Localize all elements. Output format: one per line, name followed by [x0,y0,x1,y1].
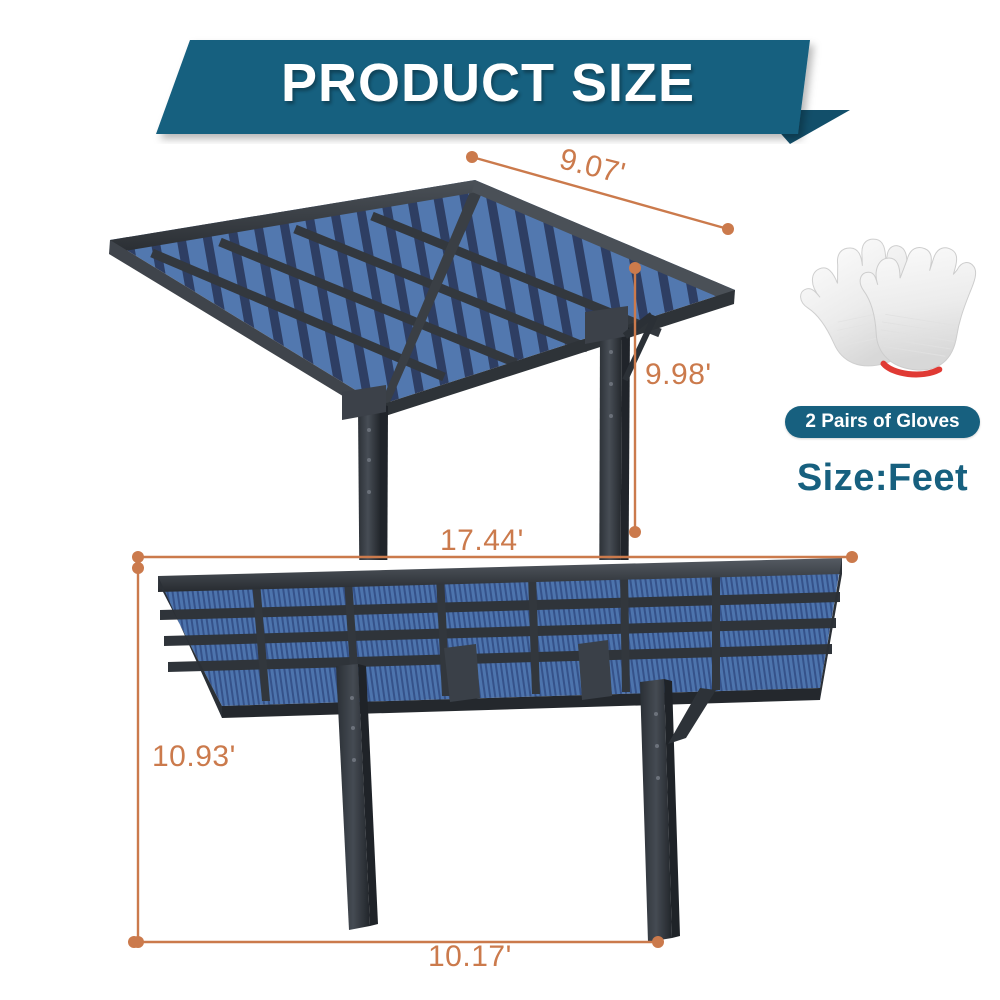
gloves-image [782,226,987,396]
pergola-front-elevation-view [130,548,870,948]
elevation-post-right [640,679,716,942]
dimension-line-post-span [126,930,666,954]
gloves-badge-label: 2 Pairs of Gloves [805,411,959,433]
dimension-label-elevation-height: 10.93' [152,740,236,774]
page-title: PRODUCT SIZE [198,52,778,114]
elevation-roof-assembly [158,558,842,718]
elevation-right-beam [578,640,612,700]
size-unit-note: Size:Feet [785,455,980,501]
infographic-canvas: PRODUCT SIZE [0,0,1000,1000]
gloves-badge: 2 Pairs of Gloves [785,406,980,438]
dimension-line-height [620,260,650,540]
support-post-left [342,385,388,560]
product-size-banner: PRODUCT SIZE [150,34,850,144]
dimension-label-width: 17.44' [440,524,524,558]
dimension-label-height: 9.98' [645,358,712,392]
dimension-line-elevation-height [126,560,150,950]
dimension-label-post-span: 10.17' [428,940,512,974]
elevation-center-beam [444,644,480,702]
